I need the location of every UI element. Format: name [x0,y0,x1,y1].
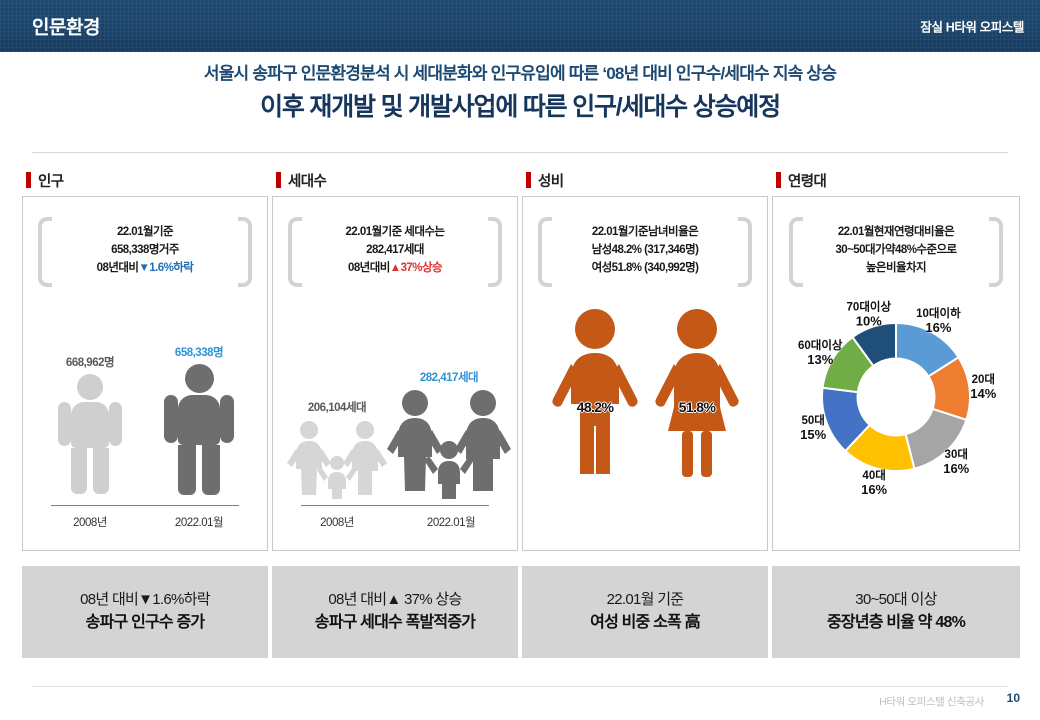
households-tick-2022: 2022.01월 [399,514,503,530]
header-band: 인문환경 잠실 H타워 오피스텔 [0,0,1040,52]
caption-accent-down: ▼1.6%하락 [138,262,193,274]
person-icon-gray [57,374,123,494]
donut-label-40대: 40대 [862,468,885,482]
caption-prefix: 08년대비 [348,262,390,274]
panel-age-card: 22.01월현재연령대비율은 30~50대가약48%수준으로 높은비율차지 10… [772,196,1020,551]
donut-value-60대이상: 13% [807,352,833,367]
family-icon-light [283,419,391,499]
caption-line-1: 22.01월기준 세대수는 [346,224,445,242]
panel-age-header: 연령대 [772,168,1022,192]
households-group-2008: 206,104세대 [283,399,391,504]
caption-line-2: 658,338명거주 [97,242,194,260]
summary-line-2: 중장년층 비율 약 48% [827,611,965,635]
male-percentage: 48.2% [545,399,645,415]
summary-box-age: 30~50대 이상 중장년층 비율 약 48% [772,566,1020,658]
summary-row: 08년 대비▼1.6%하락 송파구 인구수 증가 08년 대비▲ 37% 상승 … [0,566,1040,658]
donut-label-10대이하: 10대이하 [916,306,961,320]
summary-line-2: 송파구 인구수 증가 [86,611,205,635]
population-value-2008: 668,962명 [45,354,135,370]
households-axis [301,505,489,506]
header-project-label: 잠실 H타워 오피스텔 [920,17,1024,36]
gender-caption: 22.01월기준남녀비율은 남성48.2% (317,346명) 여성51.8%… [538,215,752,287]
households-caption-text: 22.01월기준 세대수는 282,417세대 08년대비▲37%상승 [328,224,463,277]
panels-row: 인구 22.01월기준 658,338명거주 08년대비▼1.6%하락 [0,168,1040,558]
caption-line-3: 08년대비▲37%상승 [346,260,445,278]
households-figure-area: 206,104세대 [273,315,517,550]
male-icon [545,307,645,477]
population-bar-2008: 668,962명 [45,354,135,494]
red-tick-icon [276,172,281,188]
donut-value-50대: 15% [800,427,826,442]
population-figure-area: 668,962명 [23,315,267,550]
family-icon-dark [385,389,513,499]
footer-project-name: H타워 오피스텔 신축공사 [879,694,984,709]
bracket-right-icon [488,217,502,287]
population-tick-2008: 2008년 [45,514,135,530]
donut-label-30대: 30대 [945,447,968,461]
slide-main-title: 이후 재개발 및 개발사업에 따른 인구/세대수 상승예정 [0,89,1040,125]
slide-subtitle: 서울시 송파구 인문환경분석 시 세대분화와 인구유입에 따른 ‘08년 대비 … [0,62,1040,87]
donut-label-50대: 50대 [802,413,825,427]
panel-age: 연령대 22.01월현재연령대비율은 30~50대가약48%수준으로 높은비율차… [772,168,1022,558]
caption-line-2: 30~50대가약48%수준으로 [835,242,956,260]
households-value-2022: 282,417세대 [385,369,513,385]
caption-line-3: 여성51.8% (340,992명) [592,260,699,278]
title-divider [32,152,1008,153]
caption-accent-up: ▲37%상승 [390,262,442,274]
panel-households-card: 22.01월기준 세대수는 282,417세대 08년대비▲37%상승 206,… [272,196,518,551]
households-value-2008: 206,104세대 [283,399,391,415]
panel-population-label: 인구 [38,170,63,191]
age-donut-area: 10대이하16%20대14%30대16%40대16%50대15%60대이상13%… [773,297,1019,527]
bracket-left-icon [288,217,302,287]
bracket-right-icon [738,217,752,287]
red-tick-icon [776,172,781,188]
person-icon-dark [164,364,234,494]
population-bar-2022: 658,338명 [151,344,247,494]
panel-population-header: 인구 [22,168,272,192]
donut-value-10대이하: 16% [925,320,951,335]
caption-line-1: 22.01월현재연령대비율은 [835,224,956,242]
population-value-2022: 658,338명 [151,344,247,360]
donut-value-20대: 14% [970,386,996,401]
red-tick-icon [26,172,31,188]
panel-gender-header: 성비 [522,168,772,192]
caption-prefix: 08년대비 [97,262,139,274]
panel-population-card: 22.01월기준 658,338명거주 08년대비▼1.6%하락 668,962… [22,196,268,551]
bracket-left-icon [538,217,552,287]
population-axis [51,505,239,506]
population-caption: 22.01월기준 658,338명거주 08년대비▼1.6%하락 [38,215,252,287]
households-tick-2008: 2008년 [287,514,387,530]
donut-label-60대이상: 60대이상 [798,338,843,352]
red-tick-icon [526,172,531,188]
panel-population: 인구 22.01월기준 658,338명거주 08년대비▼1.6%하락 [22,168,272,558]
bracket-left-icon [38,217,52,287]
footer-divider [32,686,1008,687]
summary-line-1: 30~50대 이상 [855,589,936,612]
slide: 인문환경 잠실 H타워 오피스텔 서울시 송파구 인문환경분석 시 세대분화와 … [0,0,1040,720]
bracket-right-icon [989,217,1003,287]
header-title: 인문환경 [32,13,100,40]
caption-line-3: 높은비율차지 [835,260,956,278]
panel-gender-card: 22.01월기준남녀비율은 남성48.2% (317,346명) 여성51.8%… [522,196,768,551]
donut-value-30대: 16% [943,461,969,476]
households-group-2022: 282,417세대 [385,369,513,504]
panel-gender: 성비 22.01월기준남녀비율은 남성48.2% (317,346명) 여성51… [522,168,772,558]
population-tick-2022: 2022.01월 [151,514,247,530]
panel-households-header: 세대수 [272,168,522,192]
panel-age-label: 연령대 [788,170,826,191]
gender-caption-text: 22.01월기준남녀비율은 남성48.2% (317,346명) 여성51.8%… [574,224,717,277]
age-caption: 22.01월현재연령대비율은 30~50대가약48%수준으로 높은비율차지 [789,215,1003,287]
summary-line-2: 여성 비중 소폭 高 [590,611,700,635]
caption-line-3: 08년대비▼1.6%하락 [97,260,194,278]
panel-households-label: 세대수 [288,170,326,191]
female-figure: 51.8% [647,307,747,482]
caption-line-2: 282,417세대 [346,242,445,260]
summary-box-households: 08년 대비▲ 37% 상승 송파구 세대수 폭발적증가 [272,566,518,658]
caption-line-1: 22.01월기준남녀비율은 [592,224,699,242]
summary-box-population: 08년 대비▼1.6%하락 송파구 인구수 증가 [22,566,268,658]
footer-page-number: 10 [1007,691,1020,705]
summary-line-2: 송파구 세대수 폭발적증가 [315,611,475,635]
panel-households: 세대수 22.01월기준 세대수는 282,417세대 08년대비▲37%상승 [272,168,522,558]
bracket-left-icon [789,217,803,287]
age-donut-chart: 10대이하16%20대14%30대16%40대16%50대15%60대이상13%… [786,297,1006,507]
donut-label-70대이상: 70대이상 [847,299,892,313]
bracket-right-icon [238,217,252,287]
male-figure: 48.2% [545,307,645,482]
female-percentage: 51.8% [647,399,747,415]
summary-line-1: 08년 대비▼1.6%하락 [80,589,210,612]
caption-line-2: 남성48.2% (317,346명) [592,242,699,260]
summary-line-1: 08년 대비▲ 37% 상승 [328,589,461,612]
age-caption-text: 22.01월현재연령대비율은 30~50대가약48%수준으로 높은비율차지 [817,224,974,277]
summary-line-1: 22.01월 기준 [607,589,684,612]
female-icon [647,307,747,477]
summary-box-gender: 22.01월 기준 여성 비중 소폭 高 [522,566,768,658]
population-caption-text: 22.01월기준 658,338명거주 08년대비▼1.6%하락 [79,224,212,277]
title-block: 서울시 송파구 인문환경분석 시 세대분화와 인구유입에 따른 ‘08년 대비 … [0,62,1040,125]
caption-line-1: 22.01월기준 [97,224,194,242]
panel-gender-label: 성비 [538,170,563,191]
donut-value-40대: 16% [861,482,887,497]
donut-label-20대: 20대 [972,372,995,386]
gender-figure-area: 48.2% 51 [523,307,767,527]
households-caption: 22.01월기준 세대수는 282,417세대 08년대비▲37%상승 [288,215,502,287]
donut-value-70대이상: 10% [856,313,882,328]
